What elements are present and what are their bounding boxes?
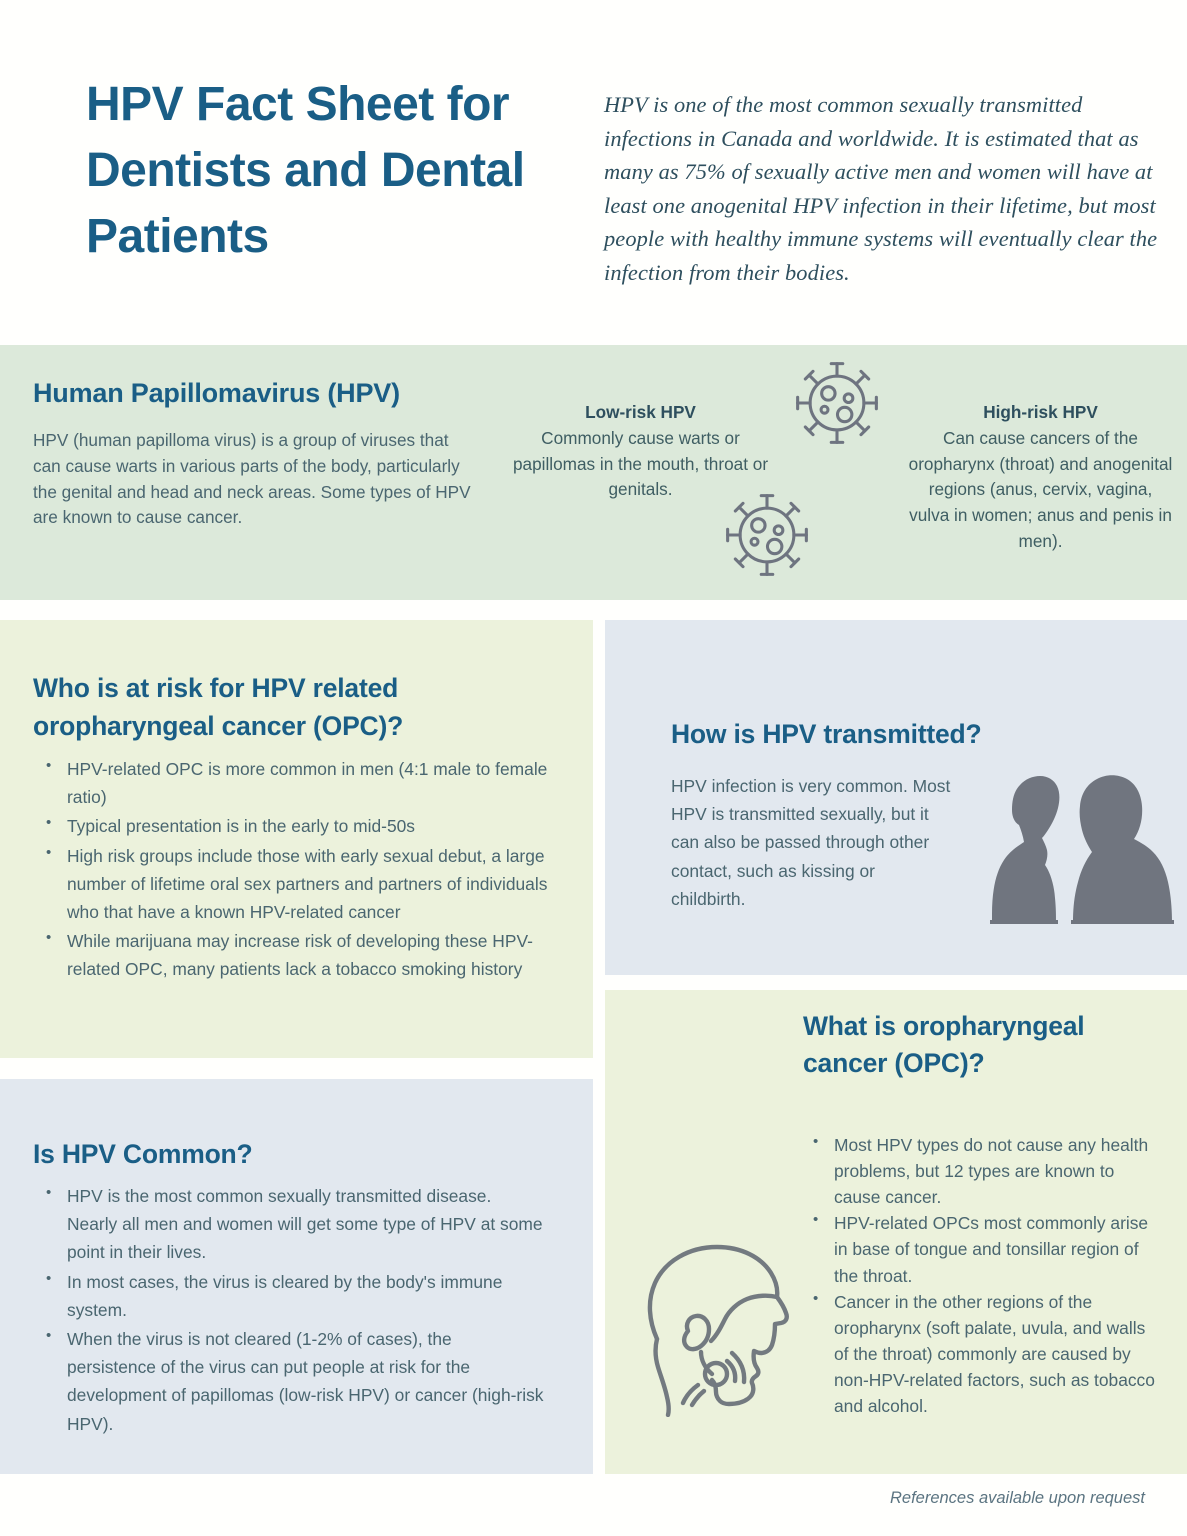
list-item: HPV-related OPCs most commonly arise in … <box>811 1210 1161 1288</box>
list-item: When the virus is not cleared (1-2% of c… <box>44 1325 544 1438</box>
intro-paragraph: HPV is one of the most common sexually t… <box>604 88 1160 290</box>
list-item: High risk groups include those with earl… <box>44 842 559 927</box>
transmission-panel-heading: How is HPV transmitted? <box>671 719 982 750</box>
virus-icon <box>789 355 885 451</box>
page-title: HPV Fact Sheet for Dentists and Dental P… <box>86 72 566 271</box>
high-risk-hpv-block: High-risk HPV Can cause cancers of the o… <box>908 400 1173 555</box>
list-item: Most HPV types do not cause any health p… <box>811 1132 1161 1210</box>
list-item: Cancer in the other regions of the oroph… <box>811 1289 1161 1420</box>
header: HPV Fact Sheet for Dentists and Dental P… <box>0 0 1187 345</box>
transmission-panel: How is HPV transmitted? HPV infection is… <box>605 620 1187 975</box>
risk-panel-heading: Who is at risk for HPV related oropharyn… <box>33 670 543 745</box>
opc-bullet-list: Most HPV types do not cause any health p… <box>811 1132 1161 1419</box>
virus-icon <box>719 487 815 583</box>
transmission-panel-body: HPV infection is very common. Most HPV i… <box>671 772 951 913</box>
head-neck-throat-icon <box>633 1235 805 1417</box>
risk-panel: Who is at risk for HPV related oropharyn… <box>0 620 593 1058</box>
list-item: In most cases, the virus is cleared by t… <box>44 1268 544 1324</box>
footer-note: References available upon request <box>890 1489 1145 1508</box>
opc-panel-heading: What is oropharyngeal cancer (OPC)? <box>803 1008 1163 1081</box>
high-risk-text: Can cause cancers of the oropharynx (thr… <box>909 428 1173 551</box>
list-item: HPV is the most common sexually transmit… <box>44 1182 544 1267</box>
kissing-couple-icon <box>970 772 1180 932</box>
low-risk-title: Low-risk HPV <box>508 400 773 426</box>
risk-bullet-list: HPV-related OPC is more common in men (4… <box>44 755 559 985</box>
high-risk-title: High-risk HPV <box>908 400 1173 426</box>
infographic-page: HPV Fact Sheet for Dentists and Dental P… <box>0 0 1187 1536</box>
hpv-band-body: HPV (human papilloma virus) is a group o… <box>33 428 473 531</box>
opc-panel: What is oropharyngeal cancer (OPC)? Most… <box>605 990 1187 1474</box>
common-bullet-list: HPV is the most common sexually transmit… <box>44 1182 544 1439</box>
hpv-band-heading: Human Papillomavirus (HPV) <box>33 378 400 409</box>
list-item: Typical presentation is in the early to … <box>44 812 559 840</box>
list-item: While marijuana may increase risk of dev… <box>44 927 559 983</box>
hpv-overview-band: Human Papillomavirus (HPV) HPV (human pa… <box>0 345 1187 600</box>
common-panel: Is HPV Common? HPV is the most common se… <box>0 1079 593 1474</box>
list-item: HPV-related OPC is more common in men (4… <box>44 755 559 811</box>
common-panel-heading: Is HPV Common? <box>33 1139 253 1170</box>
